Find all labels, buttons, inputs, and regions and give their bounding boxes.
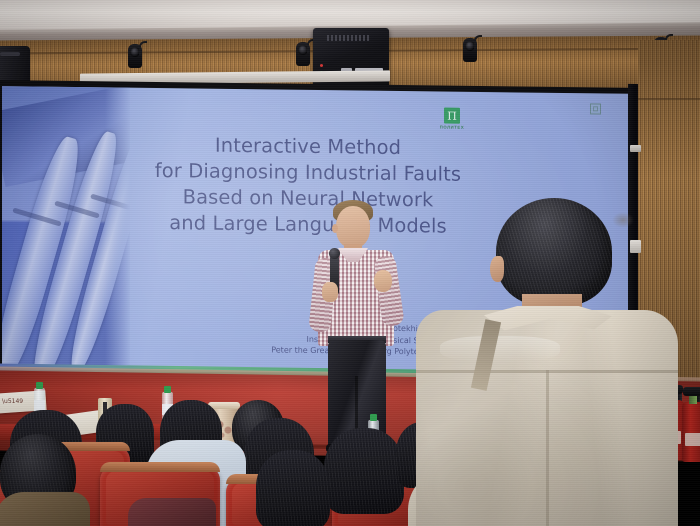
bottle-cap	[370, 414, 377, 421]
seat-rim	[100, 462, 220, 472]
foreground-attendee-ear	[490, 256, 504, 282]
presenter	[304, 196, 408, 456]
right-wall-seam	[638, 98, 700, 100]
lecture-hall-photo: Interactive Method for Diagnosing Indust…	[0, 0, 700, 526]
audience-head	[256, 450, 330, 526]
foreground-attendee-hair	[496, 198, 612, 306]
projector-power-led	[320, 64, 323, 67]
polytech-logo-glyph: П	[444, 108, 460, 124]
spotlight-icon	[296, 42, 310, 66]
spotlight-icon	[463, 38, 477, 62]
hair-whorl	[612, 212, 634, 228]
audience-bag	[128, 498, 216, 526]
presenter-ear	[332, 224, 338, 233]
polytech-logo-wordmark: ПОЛИТЕХ	[432, 124, 472, 129]
audience-shoulders	[0, 492, 90, 526]
bottle-cap	[36, 382, 43, 389]
presenter-left-hand	[322, 282, 338, 302]
audience-head	[324, 428, 404, 514]
presenter-right-hand	[374, 270, 392, 292]
bottle-cap	[164, 386, 171, 393]
wall-switch-plate[interactable]	[630, 145, 641, 152]
slide-title-line-2: for Diagnosing Industrial Faults	[98, 157, 518, 188]
screen-watermark-icon	[590, 103, 601, 114]
spotlight-icon	[128, 44, 142, 68]
presenter-head	[336, 206, 370, 248]
projector-brand-label	[327, 35, 371, 41]
polytech-logo: П ПОЛИТЕХ	[432, 107, 472, 129]
shirt-highlight	[440, 336, 560, 362]
handout-text: \u5149	[2, 398, 23, 405]
shirt-back-pleat	[546, 370, 549, 526]
foreground-attendee	[430, 198, 700, 526]
